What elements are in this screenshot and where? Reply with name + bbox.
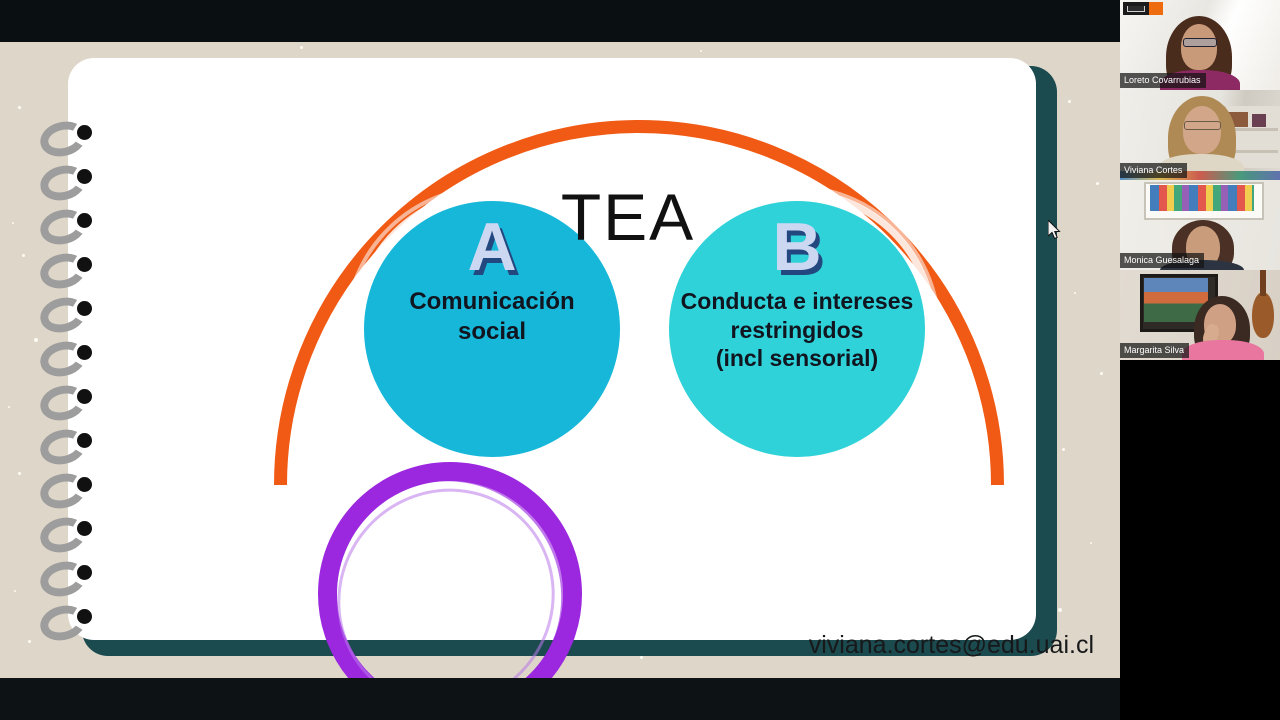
binding-ring-cap bbox=[77, 125, 92, 140]
sparkle-dot bbox=[22, 254, 25, 257]
wall-artwork-image bbox=[1150, 185, 1254, 211]
spiral-binding bbox=[40, 122, 110, 678]
binding-ring-cap bbox=[77, 345, 92, 360]
circle-c-empty[interactable] bbox=[318, 462, 582, 678]
binding-ring-cap bbox=[77, 609, 92, 624]
sparkle-dot bbox=[12, 222, 14, 224]
binding-ring bbox=[40, 474, 92, 508]
video-tile[interactable]: Viviana Cortes bbox=[1120, 90, 1280, 180]
binding-ring bbox=[40, 518, 92, 552]
circle-a-label: Comunicación social bbox=[403, 287, 580, 347]
participant-name: Monica Guesalaga bbox=[1120, 253, 1204, 268]
sparkle-dot bbox=[18, 106, 21, 109]
binding-ring-cap bbox=[77, 257, 92, 272]
participant-video-strip: Loreto Covarrubias Viviana Cortes Mon bbox=[1120, 0, 1280, 720]
sparkle-dot bbox=[34, 338, 38, 342]
participant-name: Margarita Silva bbox=[1120, 343, 1189, 358]
participant-name: Loreto Covarrubias bbox=[1120, 73, 1206, 88]
circle-b-label-line: Conducta e intereses bbox=[681, 287, 914, 316]
participant-torso bbox=[1182, 340, 1264, 360]
binding-ring-cap bbox=[77, 521, 92, 536]
binding-ring bbox=[40, 430, 92, 464]
guitar-icon bbox=[1252, 292, 1274, 338]
binding-ring bbox=[40, 122, 92, 156]
sparkle-dot bbox=[8, 406, 10, 408]
participant-glasses bbox=[1183, 38, 1217, 47]
binding-ring-cap bbox=[77, 301, 92, 316]
screen: A Comunicación social B Conducta e inter… bbox=[0, 0, 1280, 720]
binding-ring bbox=[40, 606, 92, 640]
presentation-slide: A Comunicación social B Conducta e inter… bbox=[0, 42, 1120, 678]
screen-share-area: A Comunicación social B Conducta e inter… bbox=[0, 0, 1120, 720]
participant-glasses bbox=[1184, 121, 1221, 130]
circle-b-label-line: (incl sensorial) bbox=[681, 344, 914, 373]
binding-ring-cap bbox=[77, 389, 92, 404]
participant-name: Viviana Cortes bbox=[1120, 163, 1187, 178]
binding-ring-cap bbox=[77, 433, 92, 448]
video-tile[interactable]: Loreto Covarrubias bbox=[1120, 0, 1280, 90]
slide-title: TEA bbox=[68, 179, 1120, 255]
sparkle-dot bbox=[1058, 608, 1062, 612]
binding-ring bbox=[40, 342, 92, 376]
guitar-neck bbox=[1260, 270, 1266, 296]
video-tile[interactable]: Margarita Silva bbox=[1120, 270, 1280, 360]
binding-ring bbox=[40, 298, 92, 332]
sparkle-dot bbox=[1062, 448, 1065, 451]
bookshelf-books bbox=[1252, 114, 1266, 127]
binding-ring bbox=[40, 562, 92, 596]
participant-face bbox=[1181, 24, 1217, 70]
notebook-page: A Comunicación social B Conducta e inter… bbox=[68, 58, 1036, 640]
uai-logo-mark bbox=[1123, 2, 1149, 15]
binding-ring bbox=[40, 386, 92, 420]
binding-ring-cap bbox=[77, 477, 92, 492]
sparkle-dot bbox=[300, 46, 303, 49]
sparkle-dot bbox=[28, 640, 31, 643]
sparkle-dot bbox=[700, 50, 702, 52]
circle-b-label: Conducta e intereses restringidos (incl … bbox=[675, 287, 920, 373]
binding-ring bbox=[40, 166, 92, 200]
sparkle-dot bbox=[1090, 542, 1092, 544]
binding-ring-cap bbox=[77, 213, 92, 228]
sparkle-dot bbox=[1074, 292, 1076, 294]
circle-a-label-line: social bbox=[409, 317, 574, 347]
bottom-letterbox-bar bbox=[0, 678, 1120, 720]
uai-logo-accent bbox=[1149, 2, 1163, 15]
contact-email: viviana.cortes@edu.uai.cl bbox=[809, 631, 1094, 660]
top-letterbox-bar bbox=[0, 0, 1120, 42]
circle-b-label-line: restringidos bbox=[681, 316, 914, 345]
sparkle-dot bbox=[1100, 372, 1103, 375]
binding-ring-cap bbox=[77, 169, 92, 184]
participant-face bbox=[1183, 106, 1221, 154]
sparkle-dot bbox=[1068, 100, 1071, 103]
uai-logo-icon bbox=[1123, 2, 1165, 15]
sparkle-dot bbox=[14, 590, 16, 592]
binding-ring-cap bbox=[77, 565, 92, 580]
sparkle-dot bbox=[640, 656, 643, 659]
sparkle-dot bbox=[18, 472, 21, 475]
binding-ring bbox=[40, 254, 92, 288]
binding-ring bbox=[40, 210, 92, 244]
circle-a-label-line: Comunicación bbox=[409, 287, 574, 317]
video-tile[interactable]: Monica Guesalaga bbox=[1120, 180, 1280, 270]
mouse-cursor-icon bbox=[1048, 220, 1062, 240]
